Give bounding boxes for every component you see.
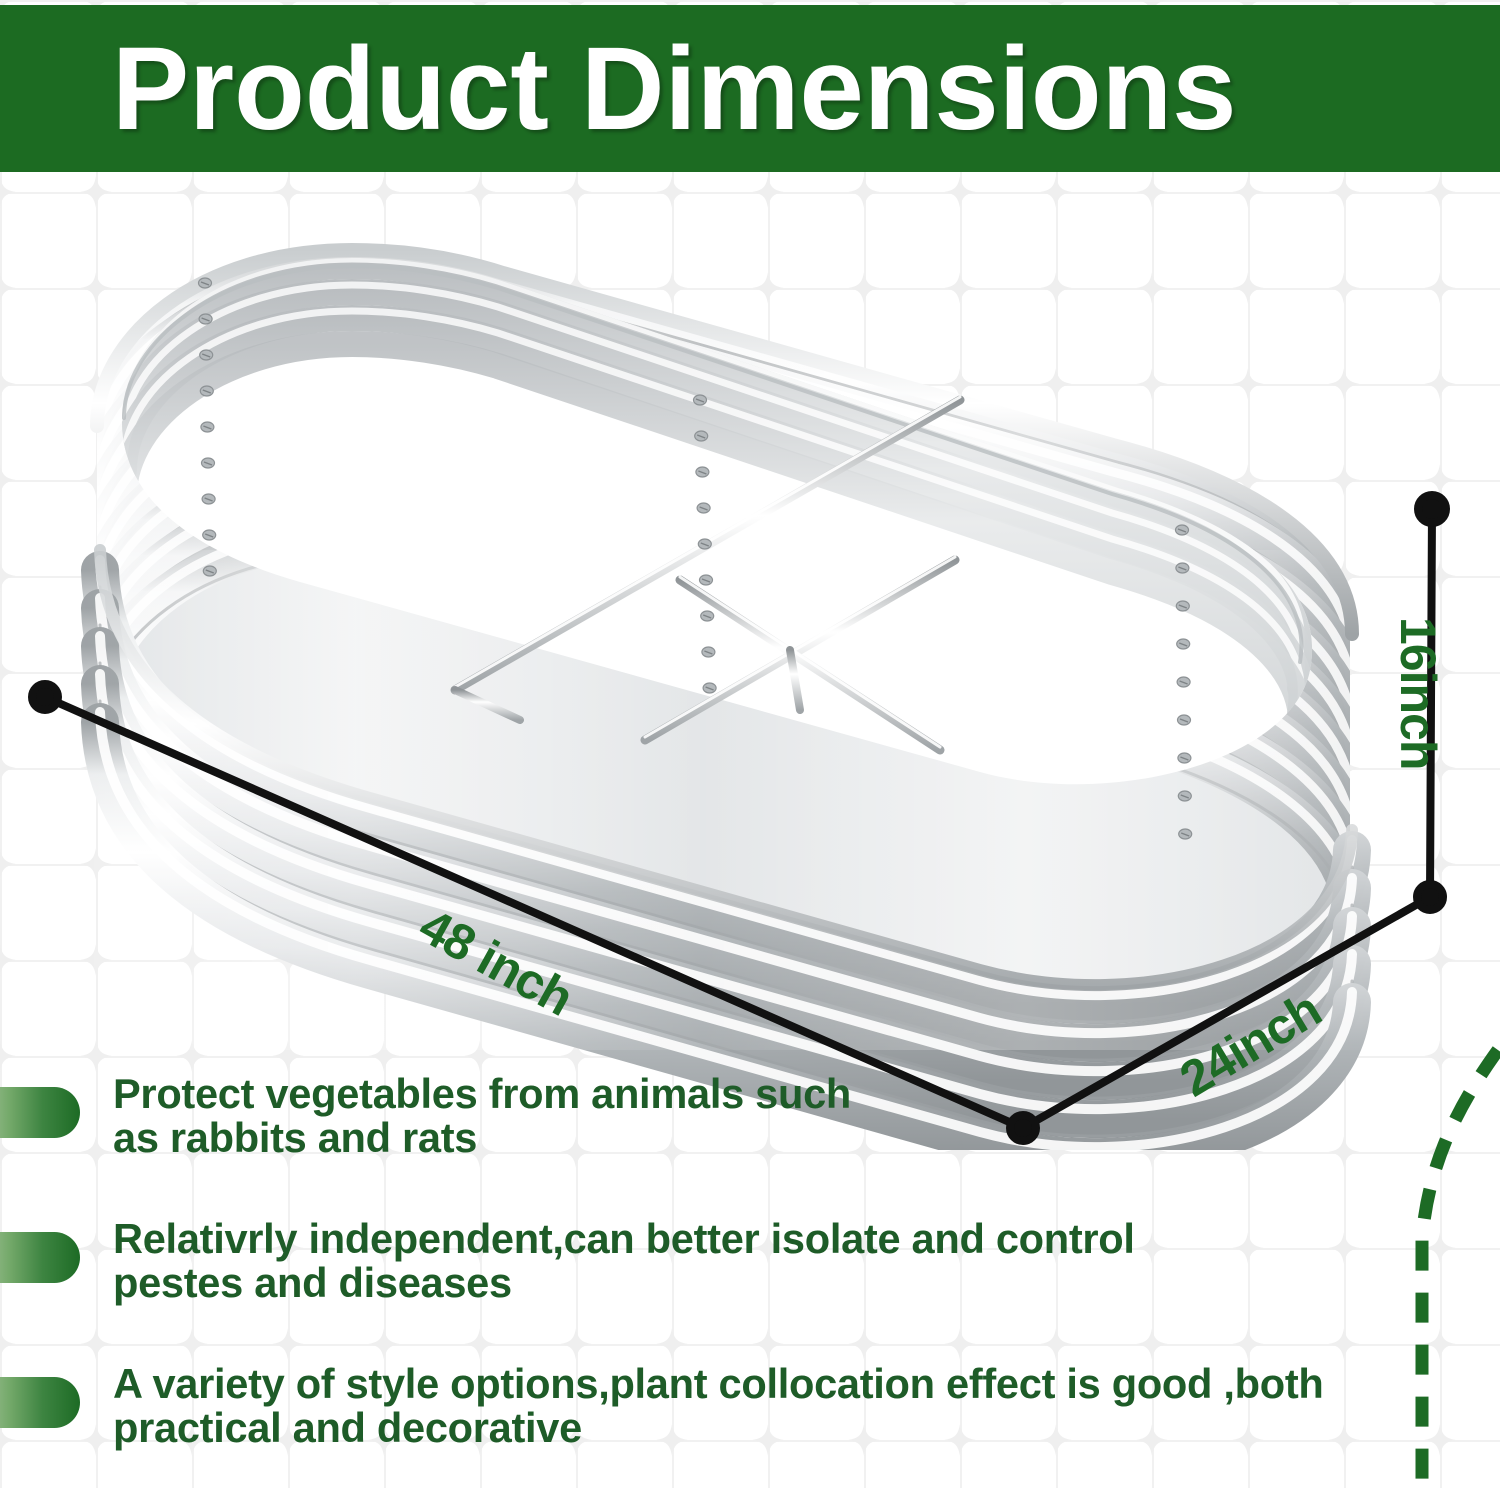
page-title: Product Dimensions: [112, 30, 1259, 148]
feature-text: A variety of style options,plant colloca…: [113, 1362, 1324, 1450]
feature-list: Protect vegetables from animals such as …: [0, 1072, 1500, 1488]
bullet-pill-icon: [0, 1377, 80, 1428]
product-illustration-raised-garden-bed: [0, 150, 1500, 1150]
feature-text: Protect vegetables from animals such as …: [113, 1072, 851, 1160]
feature-text: Relativrly independent,can better isolat…: [113, 1217, 1135, 1305]
list-item: Relativrly independent,can better isolat…: [0, 1217, 1500, 1362]
bullet-pill-icon: [0, 1087, 80, 1138]
bullet-pill-icon: [0, 1232, 80, 1283]
list-item: A variety of style options,plant colloca…: [0, 1362, 1500, 1488]
header-banner: Product Dimensions: [0, 5, 1500, 172]
page-title-text: Product Dimensions: [112, 30, 1236, 148]
product-dimensions-infographic: Product Dimensions: [0, 0, 1500, 1488]
list-item: Protect vegetables from animals such as …: [0, 1072, 1500, 1217]
